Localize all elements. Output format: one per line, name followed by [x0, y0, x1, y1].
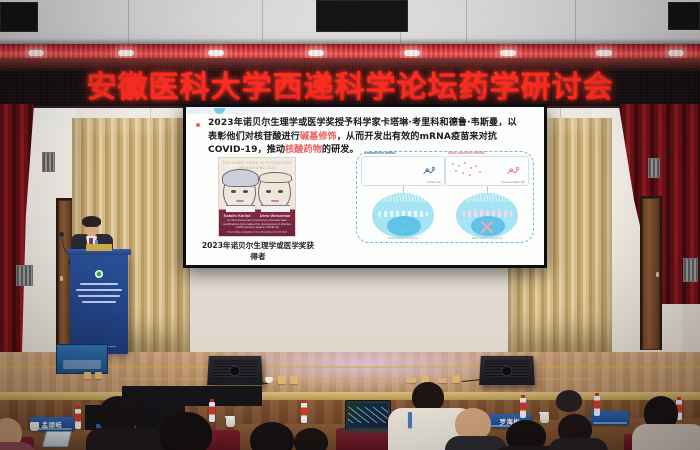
stage-monitor-right [479, 356, 535, 385]
speaker-hair [82, 216, 101, 226]
pseudouridine-sublabel: Pseudouridine (Ψ) [501, 180, 525, 184]
water-bottle [301, 403, 307, 423]
ceiling-vent-right [668, 2, 700, 30]
wall-vent-upper-right [648, 158, 660, 178]
water-bottle [209, 402, 215, 422]
banner-title: 安徽医科大学西递科学论坛药学研讨会 [0, 62, 700, 106]
nobel-prize-poster: THE NOBEL PRIZE IN PHYSIOLOGY OR MEDICIN… [218, 157, 296, 237]
ceiling-vent-center [316, 0, 408, 32]
pseudouridine-molecule-icon [504, 163, 522, 181]
portrait-karikó [223, 172, 256, 210]
paper-cup [226, 418, 235, 427]
unmodified-mrna-box: Unmodified mRNA Uridine (U) [361, 156, 445, 186]
slide-line-3b: 的研发。 [322, 145, 359, 155]
lectern [70, 253, 128, 354]
slide-header-bar [186, 107, 544, 114]
auditorium-scene: 安徽医科大学西递科学论坛药学研讨会 2023年诺贝尔生理学或医学奖授予科学家卡塔… [0, 0, 700, 450]
diagram-column-unmodified: Unmodified mRNA Uridine (U) [361, 156, 445, 238]
slide-line-3-highlight: 核酸药物 [285, 145, 322, 155]
water-bottle [520, 398, 526, 418]
slide-line-1: 2023年诺贝尔生理学或医学奖授予科学家卡塔琳·考里科和德鲁·韦斯曼，以 [208, 118, 517, 128]
audience-tablet[interactable] [42, 431, 72, 447]
water-bottle [75, 409, 81, 429]
uridine-molecule-icon [420, 163, 438, 181]
laptop-screen [348, 403, 388, 427]
uridine-sublabel: Uridine (U) [427, 180, 441, 184]
ceiling-vent-left [0, 2, 38, 32]
slide-line-2-highlight: 碱基修饰 [300, 132, 337, 142]
paper-cup [30, 422, 39, 431]
stage-side-display [56, 344, 108, 374]
diagram-column-modified: Base-modified mRNA Pseudouridine (Ψ) [445, 156, 529, 238]
water-bottle [594, 396, 600, 416]
microphone-head-icon [59, 232, 64, 237]
slide-line-3a: COVID-19，推动 [208, 145, 285, 155]
poster-citation: for their discoveries concerning nucleos… [222, 219, 292, 230]
base-modified-mrna-box: Base-modified mRNA Pseudouridine (Ψ) [445, 156, 529, 186]
no-inflammation-x-icon [479, 219, 495, 235]
audience-laptop[interactable] [345, 400, 391, 430]
slide-content: 2023年诺贝尔生理学或医学奖授予科学家卡塔琳·考里科和德鲁·韦斯曼，以 表彰他… [186, 107, 544, 265]
unmodified-mrna-label: Unmodified mRNA [364, 151, 396, 155]
poster-caption: 2023年诺贝尔生理学或医学奖获得者 [200, 240, 316, 262]
wall-vent-lower-right [683, 258, 698, 282]
slide-line-2a: 表彰他们对核苷酸进行 [208, 132, 300, 142]
university-emblem-icon [95, 270, 103, 278]
outcome-label-left: Inflammatory response [361, 236, 445, 240]
pseudouridine-dots-icon [451, 162, 487, 182]
led-banner: 安徽医科大学西递科学论坛药学研讨会 [0, 58, 700, 110]
paper-cup [540, 414, 549, 423]
poster-title: THE NOBEL PRIZE IN PHYSIOLOGY OR MEDICIN… [219, 161, 295, 170]
slide-line-2b: ，从而开发出有效的mRNA疫苗来对抗 [337, 132, 497, 142]
inflammation-burst-icon [395, 221, 411, 233]
portrait-weissman [258, 172, 291, 210]
mrna-diagram: Unmodified mRNA Uridine (U) [356, 151, 534, 243]
projection-screen: 2023年诺贝尔生理学或医学奖授予科学家卡塔琳·考里科和德鲁·韦斯曼，以 表彰他… [183, 104, 547, 268]
bullet-icon [196, 123, 200, 127]
stage-front-recess-center [122, 386, 262, 406]
outcome-label-right: Inflammatory response [445, 236, 529, 240]
lectern-nameplate [86, 244, 112, 251]
placard-name: 孟颂岐 [42, 420, 63, 429]
speaker-glasses [85, 226, 98, 229]
wall-vent-upper-left [42, 152, 55, 172]
base-modified-mrna-label: Base-modified mRNA [448, 151, 485, 155]
poster-footer: THE NOBEL ASSEMBLY AT KAROLINSKA INSTITU… [219, 231, 295, 234]
wall-vent-lower-left [16, 265, 33, 286]
stage-monitor-left [207, 356, 263, 385]
